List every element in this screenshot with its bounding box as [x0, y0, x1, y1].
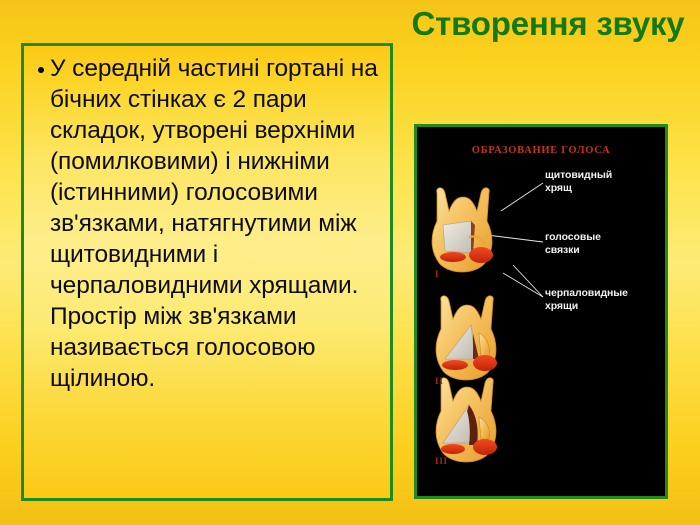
stage-numeral-1: I [435, 270, 439, 280]
figure-label-arytenoid-cartilages: черпаловидные хрящи [545, 287, 628, 313]
body-paragraph: У середній частині гортані на бічних сті… [50, 54, 384, 395]
page-title: Створення звуку [398, 6, 698, 43]
bullet-list-item: У середній частині гортані на бічних сті… [32, 54, 384, 395]
illustration-panel: ОБРАЗОВАНИЕ ГОЛОСА [414, 124, 668, 499]
figure-label-thyroid-cartilage: щитовидный хрящ [545, 169, 612, 195]
larynx-diagram-stage-1 [423, 181, 541, 277]
stage-numeral-2: II [435, 377, 443, 387]
stage-numeral-3: III [435, 457, 448, 467]
larynx-diagram-stage-3 [427, 371, 545, 467]
body-text-box: У середній частині гортані на бічних сті… [21, 43, 393, 501]
slide-canvas: Створення звуку У середній частині горта… [0, 0, 700, 525]
figure-label-vocal-cords: голосовые связки [545, 231, 601, 257]
bullet-point-icon [32, 67, 50, 73]
